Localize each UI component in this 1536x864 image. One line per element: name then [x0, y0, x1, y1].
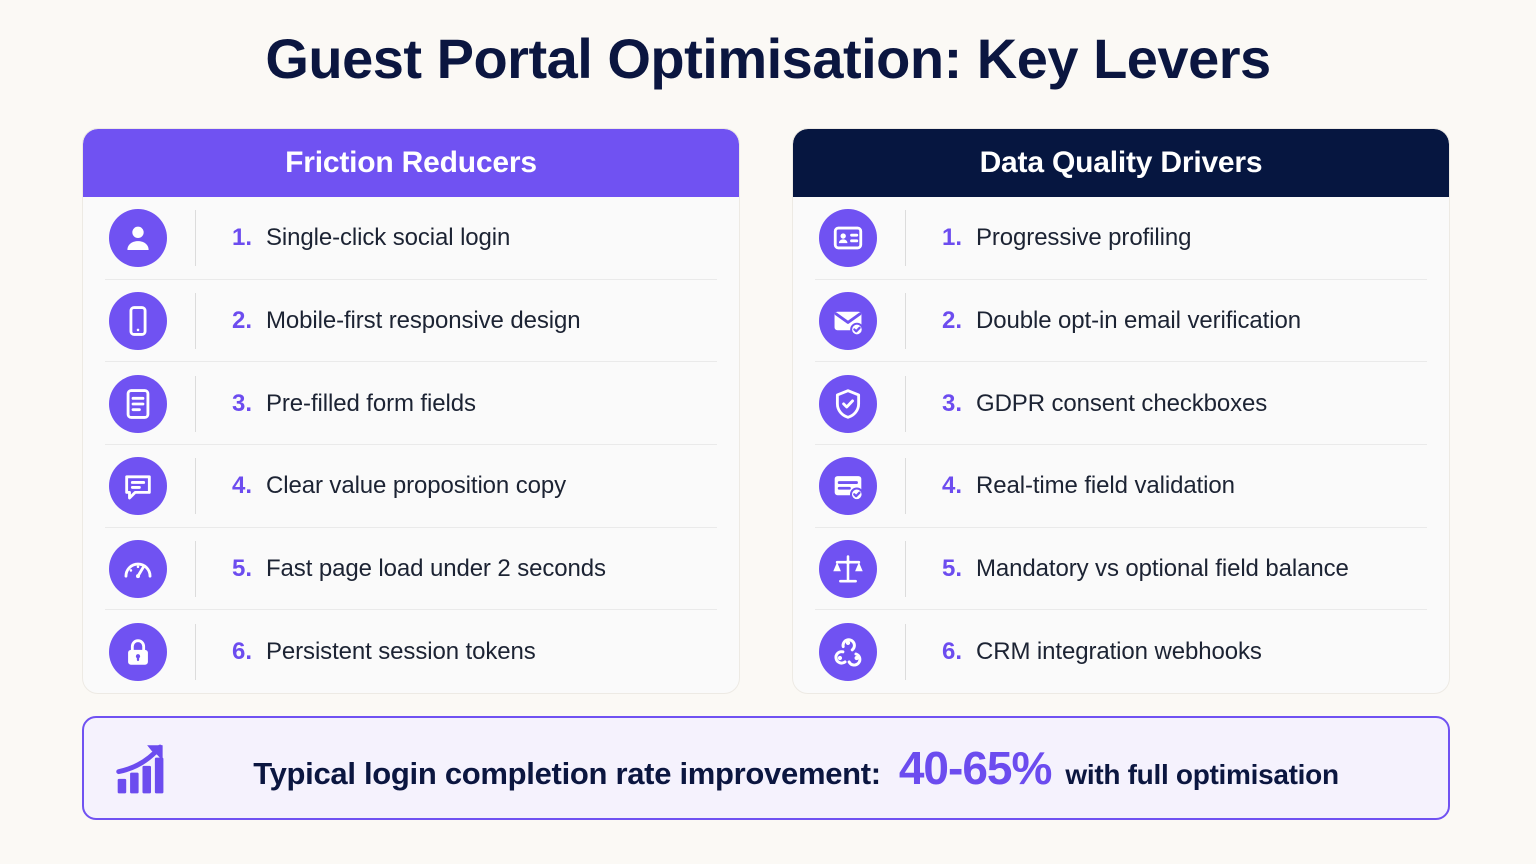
list-item[interactable]: 2. Mobile-first responsive design — [105, 280, 717, 363]
card-friction-reducers: Friction Reducers 1. Single-click social… — [82, 128, 740, 694]
banner-stat-value: 40-65% — [899, 741, 1052, 795]
list-item-label: Mandatory vs optional field balance — [976, 555, 1349, 583]
list-item-label: Progressive profiling — [976, 224, 1191, 252]
page-title: Guest Portal Optimisation: Key Levers — [0, 26, 1536, 91]
row-separator — [195, 210, 196, 266]
form-check-icon — [819, 457, 877, 515]
list-item-number: 5. — [232, 555, 266, 583]
lock-icon — [109, 623, 167, 681]
scales-icon — [819, 540, 877, 598]
list-item[interactable]: 1. Single-click social login — [105, 197, 717, 280]
list-item-label: Double opt-in email verification — [976, 307, 1301, 335]
list-item-number: 1. — [942, 224, 976, 252]
list-item[interactable]: 1. Progressive profiling — [815, 197, 1427, 280]
row-separator — [195, 624, 196, 680]
list-item-number: 5. — [942, 555, 976, 583]
list-item-number: 6. — [232, 638, 266, 666]
card-body-friction-reducers: 1. Single-click social login 2. Mobile-f… — [83, 197, 739, 693]
row-separator — [195, 376, 196, 432]
row-separator — [905, 210, 906, 266]
list-item-label: Persistent session tokens — [266, 638, 536, 666]
list-item-label: Mobile-first responsive design — [266, 307, 580, 335]
envelope-check-icon — [819, 292, 877, 350]
banner-tail-text: with full optimisation — [1065, 759, 1338, 791]
summary-banner: Typical login completion rate improvemen… — [82, 716, 1450, 820]
card-body-data-quality-drivers: 1. Progressive profiling 2. Double opt-i… — [793, 197, 1449, 693]
card-header-friction-reducers: Friction Reducers — [83, 129, 739, 197]
document-icon — [109, 375, 167, 433]
card-header-data-quality-drivers: Data Quality Drivers — [793, 129, 1449, 197]
mobile-phone-icon — [109, 292, 167, 350]
card-header-title: Friction Reducers — [285, 146, 537, 180]
banner-text: Typical login completion rate improvemen… — [144, 741, 1448, 795]
list-item[interactable]: 3. Pre-filled form fields — [105, 362, 717, 445]
list-item[interactable]: 5. Mandatory vs optional field balance — [815, 528, 1427, 611]
row-separator — [905, 293, 906, 349]
list-item-label: Single-click social login — [266, 224, 510, 252]
list-item[interactable]: 6. Persistent session tokens — [105, 610, 717, 693]
row-separator — [905, 376, 906, 432]
list-item-number: 2. — [942, 307, 976, 335]
id-card-icon — [819, 209, 877, 267]
list-item-number: 3. — [232, 390, 266, 418]
list-item-number: 1. — [232, 224, 266, 252]
row-separator — [195, 293, 196, 349]
list-item[interactable]: 4. Clear value proposition copy — [105, 445, 717, 528]
list-item-number: 6. — [942, 638, 976, 666]
list-item[interactable]: 2. Double opt-in email verification — [815, 280, 1427, 363]
list-item[interactable]: 6. CRM integration webhooks — [815, 610, 1427, 693]
list-item[interactable]: 5. Fast page load under 2 seconds — [105, 528, 717, 611]
list-item-number: 4. — [232, 472, 266, 500]
shield-check-icon — [819, 375, 877, 433]
list-item-label: CRM integration webhooks — [976, 638, 1262, 666]
row-separator — [905, 541, 906, 597]
chat-bubble-icon — [109, 457, 167, 515]
list-item-label: Pre-filled form fields — [266, 390, 476, 418]
list-item-label: Real-time field validation — [976, 472, 1235, 500]
webhook-icon — [819, 623, 877, 681]
row-separator — [905, 624, 906, 680]
speedometer-icon — [109, 540, 167, 598]
row-separator — [195, 541, 196, 597]
list-item-number: 2. — [232, 307, 266, 335]
list-item-number: 3. — [942, 390, 976, 418]
card-data-quality-drivers: Data Quality Drivers 1. Progressive prof… — [792, 128, 1450, 694]
columns-container: Friction Reducers 1. Single-click social… — [82, 128, 1450, 694]
list-item-label: GDPR consent checkboxes — [976, 390, 1267, 418]
card-header-title: Data Quality Drivers — [980, 146, 1263, 180]
row-separator — [905, 458, 906, 514]
person-icon — [109, 209, 167, 267]
list-item-label: Fast page load under 2 seconds — [266, 555, 606, 583]
list-item[interactable]: 4. Real-time field validation — [815, 445, 1427, 528]
list-item[interactable]: 3. GDPR consent checkboxes — [815, 362, 1427, 445]
row-separator — [195, 458, 196, 514]
banner-lead-text: Typical login completion rate improvemen… — [253, 756, 881, 792]
list-item-label: Clear value proposition copy — [266, 472, 566, 500]
list-item-number: 4. — [942, 472, 976, 500]
